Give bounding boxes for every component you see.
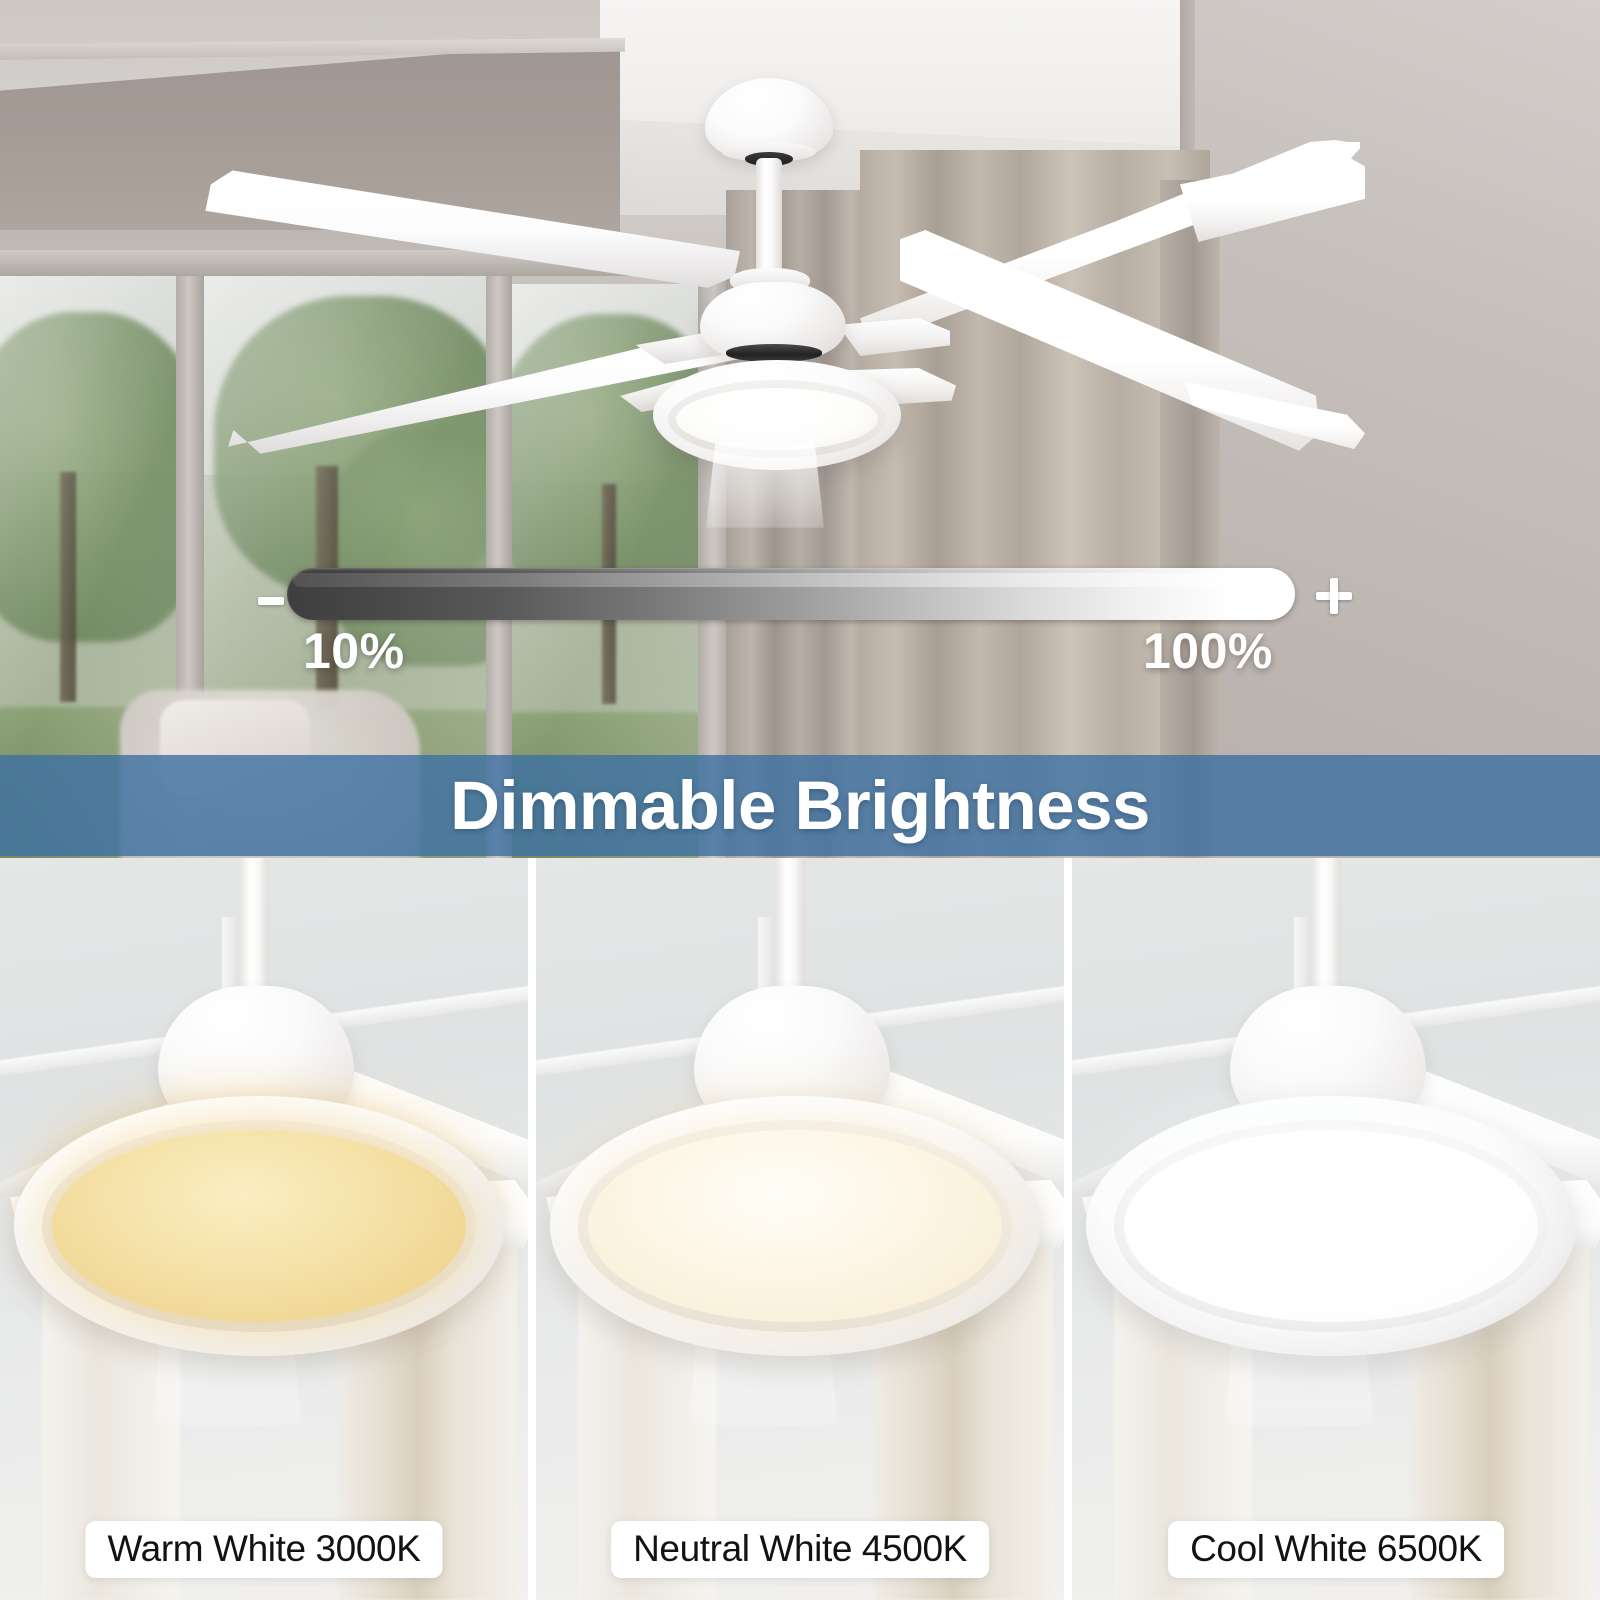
fan-light-lens — [588, 1130, 1002, 1322]
cct-label-text: Cool White 6500K — [1190, 1528, 1482, 1569]
brightness-slider-track[interactable] — [287, 568, 1295, 620]
brightness-slider[interactable] — [0, 540, 1600, 710]
room-scene-top: 10% 100% — [0, 0, 1600, 858]
cct-label-neutral: Neutral White 4500K — [611, 1521, 989, 1578]
cct-label-warm: Warm White 3000K — [86, 1521, 443, 1578]
cct-panel-warm: Warm White 3000K — [0, 858, 528, 1600]
cct-label-text: Neutral White 4500K — [633, 1528, 967, 1569]
panel-divider-1 — [528, 858, 536, 1600]
brightness-min-label: 10% — [303, 622, 405, 680]
banner-title: Dimmable Brightness — [450, 771, 1150, 840]
fan-downrod — [239, 858, 269, 1000]
product-feature-image: 10% 100% Dimmable Brightness — [0, 0, 1600, 1600]
cct-label-text: Warm White 3000K — [108, 1528, 421, 1569]
panel-divider-2 — [1064, 858, 1072, 1600]
fan-light-lens — [1124, 1130, 1538, 1322]
fan-downrod — [756, 158, 782, 276]
feature-banner: Dimmable Brightness — [0, 755, 1600, 856]
fan-blade-arm-right — [838, 318, 950, 356]
cct-panel-neutral: Neutral White 4500K — [536, 858, 1064, 1600]
brightness-max-label: 100% — [1143, 622, 1273, 680]
fan-light-lens — [676, 388, 878, 450]
fan-blade-upper-left — [200, 168, 740, 294]
fan-downrod — [1311, 858, 1341, 1000]
fan-light-beam — [706, 442, 824, 528]
color-temperature-comparison: Warm White 3000K Neutral W — [0, 858, 1600, 1600]
fan-light-lens — [52, 1130, 466, 1322]
cct-label-cool: Cool White 6500K — [1168, 1521, 1504, 1578]
fan-downrod — [775, 858, 805, 1000]
plus-icon[interactable] — [1316, 578, 1352, 614]
fan-blade-right — [900, 230, 1320, 460]
cct-panel-cool: Cool White 6500K — [1072, 858, 1600, 1600]
minus-icon[interactable] — [258, 597, 284, 605]
